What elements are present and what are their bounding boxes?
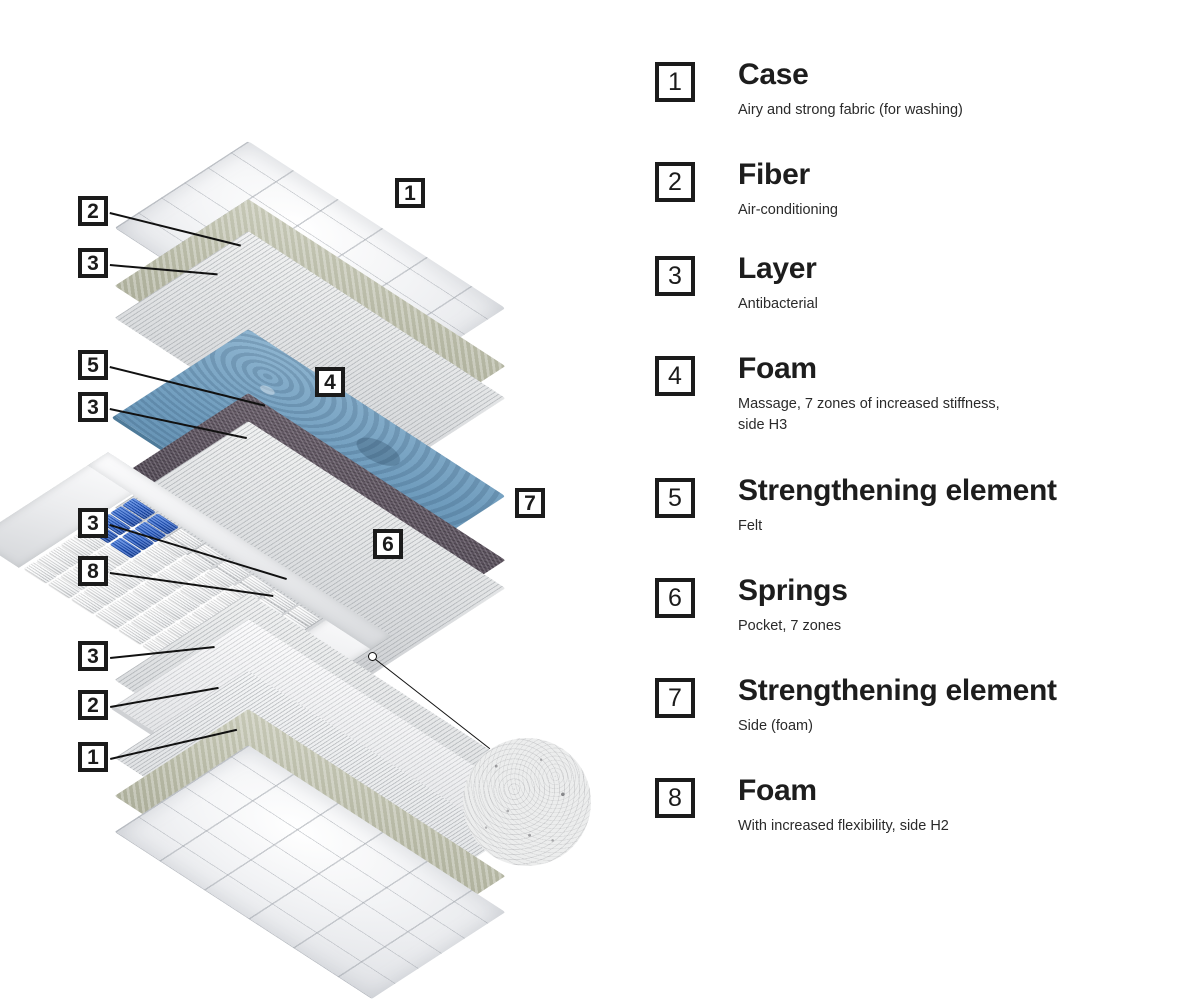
legend-title-5: Strengthening element: [738, 474, 1057, 508]
legend-number-box-2: 2: [655, 162, 695, 202]
legend-desc-3: Antibacterial: [738, 294, 818, 315]
callout-4-foam: 4: [315, 367, 345, 397]
legend-number-box-5: 5: [655, 478, 695, 518]
legend-number-box-1: 1: [655, 62, 695, 102]
legend-desc-6: Pocket, 7 zones: [738, 616, 841, 637]
legend-title-2: Fiber: [738, 158, 810, 192]
legend-desc-2: Air-conditioning: [738, 200, 838, 221]
callout-7-side: 7: [515, 488, 545, 518]
callout-3-felt: 3: [78, 392, 108, 422]
callout-3-bottom: 3: [78, 641, 108, 671]
legend-number-box-3: 3: [655, 256, 695, 296]
legend-desc-1: Airy and strong fabric (for washing): [738, 100, 963, 121]
legend-desc-7: Side (foam): [738, 716, 813, 737]
legend-number-box-4: 4: [655, 356, 695, 396]
foam-texture-magnifier: [463, 738, 591, 866]
legend-desc-8: With increased flexibility, side H2: [738, 816, 949, 837]
legend-desc-5: Felt: [738, 516, 762, 537]
magnifier-anchor-dot: [368, 652, 377, 661]
callout-5-felt: 5: [78, 350, 108, 380]
legend-number-box-6: 6: [655, 578, 695, 618]
legend-number-box-7: 7: [655, 678, 695, 718]
spring-core-assembly: [108, 452, 578, 612]
legend-title-6: Springs: [738, 574, 848, 608]
callout-6-springs: 6: [373, 529, 403, 559]
legend-title-1: Case: [738, 58, 809, 92]
callout-3-core: 3: [78, 508, 108, 538]
legend-title-7: Strengthening element: [738, 674, 1057, 708]
legend-panel: 1CaseAiry and strong fabric (for washing…: [655, 0, 1200, 900]
callout-8-core: 8: [78, 556, 108, 586]
legend-title-8: Foam: [738, 774, 817, 808]
legend-title-3: Layer: [738, 252, 817, 286]
callout-1-top: 1: [395, 178, 425, 208]
legend-title-4: Foam: [738, 352, 817, 386]
legend-number-box-8: 8: [655, 778, 695, 818]
callout-2-top: 2: [78, 196, 108, 226]
callout-1-bottom: 1: [78, 742, 108, 772]
legend-desc-4: Massage, 7 zones of increased stiffness,…: [738, 394, 1000, 436]
callout-3-top: 3: [78, 248, 108, 278]
callout-2-bottom: 2: [78, 690, 108, 720]
diagram-stage: 1235433867321 1CaseAiry and strong fabri…: [0, 0, 1200, 900]
